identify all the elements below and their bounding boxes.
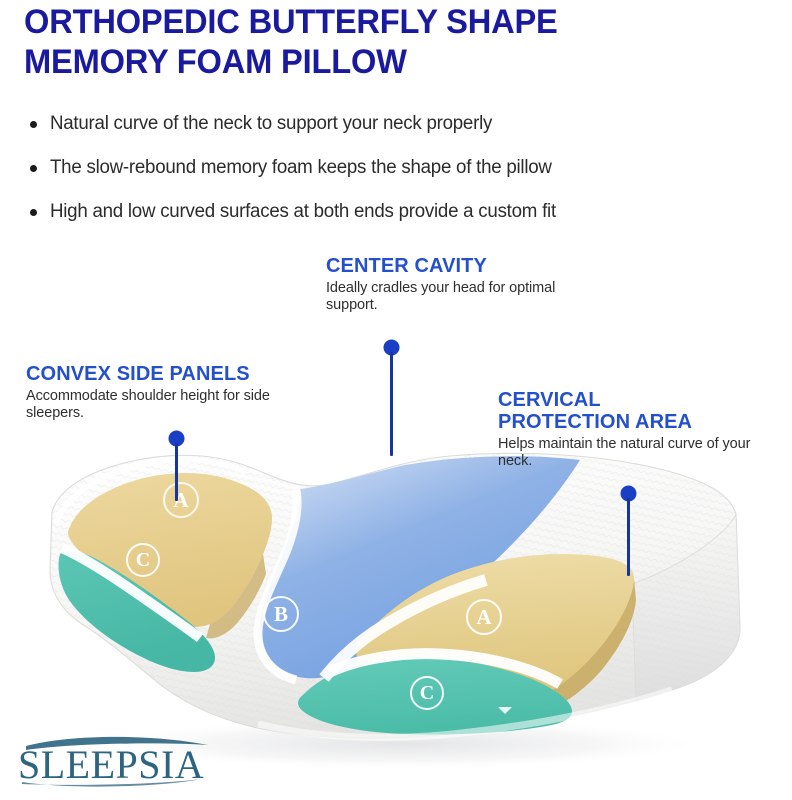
title-line-1: ORTHOPEDIC BUTTERFLY SHAPE [24, 2, 734, 42]
callout-cervical-protection-area: CERVICAL PROTECTION AREA Helps maintain … [498, 389, 783, 470]
callout-title-line-1: CERVICAL [498, 389, 783, 411]
bullet-icon [30, 165, 37, 172]
feature-text: The slow-rebound memory foam keeps the s… [50, 156, 552, 180]
callout-body: Ideally cradles your head for optimal su… [326, 280, 561, 314]
zone-letter: C [410, 676, 444, 710]
callout-title: CONVEX SIDE PANELS [26, 363, 326, 385]
list-item: Natural curve of the neck to support you… [30, 112, 775, 136]
pin-stem [390, 352, 393, 456]
bullet-icon [30, 121, 37, 128]
list-item: High and low curved surfaces at both end… [30, 200, 775, 224]
zone-badge-b: B [263, 596, 299, 632]
pillow-illustration [0, 432, 792, 772]
zone-badge-a2: A [466, 599, 502, 635]
feature-list: Natural curve of the neck to support you… [30, 112, 775, 244]
zone-letter: B [263, 596, 299, 632]
callout-title-line-2: PROTECTION AREA [498, 411, 783, 433]
feature-text: High and low curved surfaces at both end… [50, 200, 556, 224]
callout-convex-side-panels: CONVEX SIDE PANELS Accommodate shoulder … [26, 363, 326, 422]
pin-stem [627, 498, 630, 576]
callout-body: Accommodate shoulder height for side sle… [26, 388, 326, 422]
zone-letter: C [126, 543, 160, 577]
zone-badge-a1: A [163, 482, 199, 518]
callout-center-cavity: CENTER CAVITY Ideally cradles your head … [326, 255, 561, 314]
zone-badge-c2: C [410, 676, 444, 710]
page-title: ORTHOPEDIC BUTTERFLY SHAPE MEMORY FOAM P… [24, 2, 764, 82]
brand-logo: SLEEPSIA [12, 726, 242, 790]
zone-letter: A [163, 482, 199, 518]
sleepsia-logo-graphic: SLEEPSIA [12, 726, 242, 790]
zone-letter: A [466, 599, 502, 635]
bullet-icon [30, 209, 37, 216]
callout-body: Helps maintain the natural curve of your… [498, 436, 783, 470]
callout-title: CENTER CAVITY [326, 255, 561, 277]
pin-stem [175, 443, 178, 501]
logo-wordmark: SLEEPSIA [18, 742, 204, 787]
feature-text: Natural curve of the neck to support you… [50, 112, 492, 136]
zone-badge-c1: C [126, 543, 160, 577]
pillow-graphic [0, 432, 792, 772]
title-line-2: MEMORY FOAM PILLOW [24, 42, 734, 82]
list-item: The slow-rebound memory foam keeps the s… [30, 156, 775, 180]
